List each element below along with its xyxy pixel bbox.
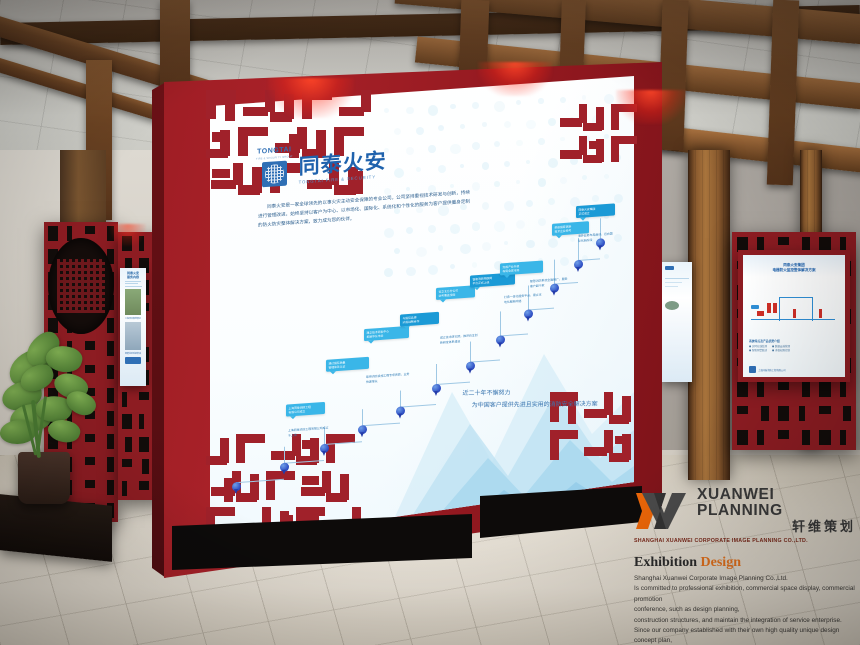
side-screen-photo-2 (125, 322, 141, 350)
side-screen-footer-bar (125, 357, 141, 364)
diagram-input (751, 305, 759, 309)
timeline-connector (400, 390, 401, 406)
divider (125, 283, 138, 284)
logo-wordmark-sub: FIRE & SECURITY GROUP (256, 155, 293, 161)
brand-name-cn: 轩维策划 (697, 521, 856, 534)
board-intro-paragraph: 同泰火安是一家全球领先的以事火灾主动安全保障的专业公司。公司坚持重视技术研发与创… (258, 190, 470, 232)
lattice-cell (107, 318, 114, 333)
lattice-cell (139, 392, 149, 400)
timeline-note: 打造一体化服务平台，建立本地化服务网络 (504, 292, 544, 304)
map-pin-icon (432, 384, 441, 394)
poster-bullet-l2: ● 智能预警联动 (749, 349, 767, 353)
tongtai-logo: TONGTAI FIRE & SECURITY GROUP 同泰火安 TONGT… (256, 140, 387, 188)
timeline-note: 成立技术研究院，推进自主创新研发体系建设 (440, 333, 480, 345)
diagram-branch (779, 297, 813, 298)
lattice-cell (122, 236, 132, 251)
board-content: TONGTAI FIRE & SECURITY GROUP 同泰火安 TONGT… (210, 50, 634, 550)
xuanwei-branding: XUANWEI PLANNING 轩维策划 SHANGHAI XUANWEI C… (634, 487, 856, 645)
map-pin-icon (524, 309, 533, 319)
timeline-bubble[interactable]: 通过国际质量管理体系认证 (326, 357, 369, 372)
lattice-medallion (48, 238, 114, 334)
lattice-cell (778, 382, 790, 390)
map-pin-icon (574, 260, 583, 270)
poster-brand-mark (749, 366, 756, 373)
lattice-cell (85, 226, 95, 234)
lattice-cell (799, 406, 805, 421)
lattice-cell (737, 382, 749, 397)
poster-right: 同泰火安集团 电器防火监控整体解决方案 系统特点及产品优势介绍 ● (743, 255, 845, 377)
timeline-bubble[interactable]: 完成产业升级布局全球市场 (500, 260, 543, 275)
diagram-baseline (751, 319, 835, 320)
brand-name-en: XUANWEI PLANNING (697, 487, 856, 518)
dark-console-table (0, 494, 112, 562)
brand-rule-line: SHANGHAI XUANWEI CORPORATE IMAGE PLANNIN… (634, 538, 856, 544)
qr-code-icon (262, 161, 287, 188)
side-screen-caption-2: 智能消防系统集成 (122, 352, 144, 355)
timeline-connector (436, 382, 470, 385)
timeline-pin[interactable] (358, 425, 367, 439)
logo-mark: TONGTAI FIRE & SECURITY GROUP (256, 146, 293, 188)
brand-body-line: conference, such as design planning, (634, 605, 856, 615)
lattice-cell (122, 414, 132, 429)
exhibition-design-heading: Exhibition Design (634, 555, 856, 571)
lattice-cell (107, 341, 114, 356)
poster-diagram (749, 285, 839, 333)
lattice-cell (107, 365, 114, 380)
main-exhibit-board: TONGTAI FIRE & SECURITY GROUP 同泰火安 TONGT… (152, 62, 672, 592)
lattice-cell (122, 459, 132, 467)
brand-body-line: construction structures, and maintain th… (634, 616, 856, 626)
timeline-connector (362, 409, 363, 425)
timeline-bubble[interactable]: 同泰火安集团正式成立 (576, 203, 615, 218)
lattice-cell (85, 480, 95, 488)
lattice-cell (139, 481, 149, 489)
lattice-cell (107, 226, 114, 241)
lattice-cell (761, 406, 769, 421)
timeline-bubble[interactable]: 设立北方分公司业务覆盖全国 (436, 285, 475, 300)
timeline-connector (324, 441, 362, 445)
exhibition-rendering: 同泰火安 服务内容 工程项目案例展示 智能消防系统集成 同泰火安集团 电器防火监… (0, 0, 860, 645)
timeline-bubble[interactable]: 建立技术研发中心拓展华东市场 (364, 326, 409, 341)
lattice-cell (737, 430, 749, 445)
lattice-cell (840, 382, 846, 397)
board-slogan: 近二十年不懈努力 为中国客户提供先进且实用的消防安全解决方案 (461, 387, 602, 412)
heading-black-word: Exhibition (634, 555, 697, 570)
lattice-cell (107, 388, 114, 403)
map-pin-icon (496, 335, 505, 345)
divider (125, 281, 141, 282)
poster-section-heading: 系统特点及产品优势介绍 (749, 339, 839, 343)
diagram-device-5 (819, 309, 822, 318)
diagram-device-3 (757, 311, 764, 316)
lattice-cell (819, 382, 831, 397)
lattice-cell (139, 414, 144, 429)
lattice-cell (48, 226, 58, 241)
timeline-connector (362, 423, 400, 427)
timeline-pin[interactable] (496, 335, 505, 349)
lattice-cell (778, 406, 790, 421)
diagram-device-1 (767, 303, 771, 313)
map-pin-icon (232, 482, 241, 492)
timeline-note: 海外业务布局启动，迈向国际化新阶段 (578, 231, 614, 243)
xuanwei-chevron-logo-icon (634, 491, 690, 531)
side-display-screen-left: 同泰火安 服务内容 工程项目案例展示 智能消防系统集成 (120, 268, 146, 386)
diagram-device-4 (793, 309, 796, 318)
diagram-device-2 (773, 303, 777, 313)
lattice-cell (840, 430, 846, 445)
lattice-cell (107, 480, 114, 495)
lattice-cell (802, 430, 810, 445)
side-screen-caption-1: 工程项目案例展示 (122, 317, 144, 320)
lattice-cell (819, 430, 831, 445)
map-pin-icon (466, 361, 475, 371)
brand-logo-row: XUANWEI PLANNING 轩维策划 (634, 487, 856, 534)
timeline-connector (400, 404, 436, 408)
lattice-cell (757, 382, 763, 397)
brand-body-line: Since our company established with their… (634, 626, 856, 645)
lattice-cell (142, 459, 149, 474)
lattice-cell (85, 341, 95, 349)
slogan-line-2: 为中国客户提供先进且实用的消防安全解决方案 (471, 399, 601, 412)
lattice-cell (107, 434, 114, 449)
timeline-note: 智慧消防系统全面推广，服务客户超千家 (530, 277, 568, 289)
brand-body-line: Is committed to professional exhibition,… (634, 584, 856, 605)
logo-wordmark-top: TONGTAI (257, 146, 291, 155)
lattice-cell (778, 237, 790, 245)
brand-body-line: Shanghai Xuanwei Corporate Image Plannin… (634, 574, 856, 584)
timeline-pin[interactable] (396, 406, 405, 420)
lattice-cell (85, 365, 95, 373)
timeline-pin[interactable] (466, 361, 475, 375)
timeline-pin[interactable] (524, 309, 533, 323)
medallion-seal (57, 259, 105, 313)
lattice-cell (125, 437, 132, 452)
map-pin-icon (320, 444, 329, 454)
lattice-cell (139, 236, 144, 251)
timeline-pin[interactable] (574, 260, 583, 274)
map-pin-icon (280, 462, 289, 472)
timeline-connector (284, 447, 285, 463)
lattice-cell (819, 406, 831, 414)
timeline-connector (236, 479, 284, 483)
lattice-cell (139, 437, 149, 452)
lattice-cell (802, 382, 810, 397)
poster-frame-right: 同泰火安集团 电器防火监控整体解决方案 系统特点及产品优势介绍 ● (738, 250, 850, 382)
timeline-connector (470, 342, 471, 362)
map-pin-icon (396, 406, 405, 416)
lattice-cell (778, 430, 790, 438)
plant-pot (18, 452, 70, 504)
timeline-connector (284, 460, 324, 464)
side-screen-photo-1 (125, 289, 141, 315)
exhibition-body-text: Shanghai Xuanwei Corporate Image Plannin… (634, 574, 856, 645)
lattice-cell (107, 457, 114, 472)
timeline-bubble[interactable]: 上海同泰消防工程有限公司成立 (286, 402, 325, 417)
lattice-cell (757, 430, 763, 445)
logo-text: 同泰火安 TONGTAI FIRE & SECURITY (299, 151, 387, 185)
lattice-cell (737, 406, 749, 414)
timeline-pin[interactable] (432, 384, 441, 398)
diagram-riser (779, 297, 780, 321)
divider (125, 286, 142, 287)
timeline-pin[interactable] (280, 462, 289, 476)
timeline-pin[interactable] (320, 444, 329, 458)
heading-orange-word: Design (701, 555, 741, 570)
lattice-cell (107, 411, 114, 426)
poster-title-2: 电器防火监控整体解决方案 (748, 268, 840, 273)
wood-column-right (688, 150, 730, 480)
poster-bullet-r2: ● 多级权限控制 (772, 349, 790, 353)
lattice-cell (85, 434, 95, 442)
lattice-cell (122, 481, 127, 496)
timeline-connector (500, 311, 501, 335)
timeline-bubble[interactable]: 与国际品牌达成战略合作 (400, 312, 439, 327)
side-screen-title-2: 服务内容 (122, 275, 144, 279)
lattice-cell (85, 457, 95, 465)
map-pin-icon (358, 425, 367, 435)
lattice-cell (843, 406, 851, 421)
timeline-note: 取得消防设施工程专项资质，业务快速增长 (366, 372, 410, 384)
diagram-riser-2 (812, 297, 813, 321)
poster-footer-brand: 上海同泰消防工程有限公司 (758, 368, 786, 372)
lattice-cell (122, 392, 127, 407)
timeline-connector (436, 364, 437, 384)
timeline-pin[interactable] (232, 482, 241, 496)
